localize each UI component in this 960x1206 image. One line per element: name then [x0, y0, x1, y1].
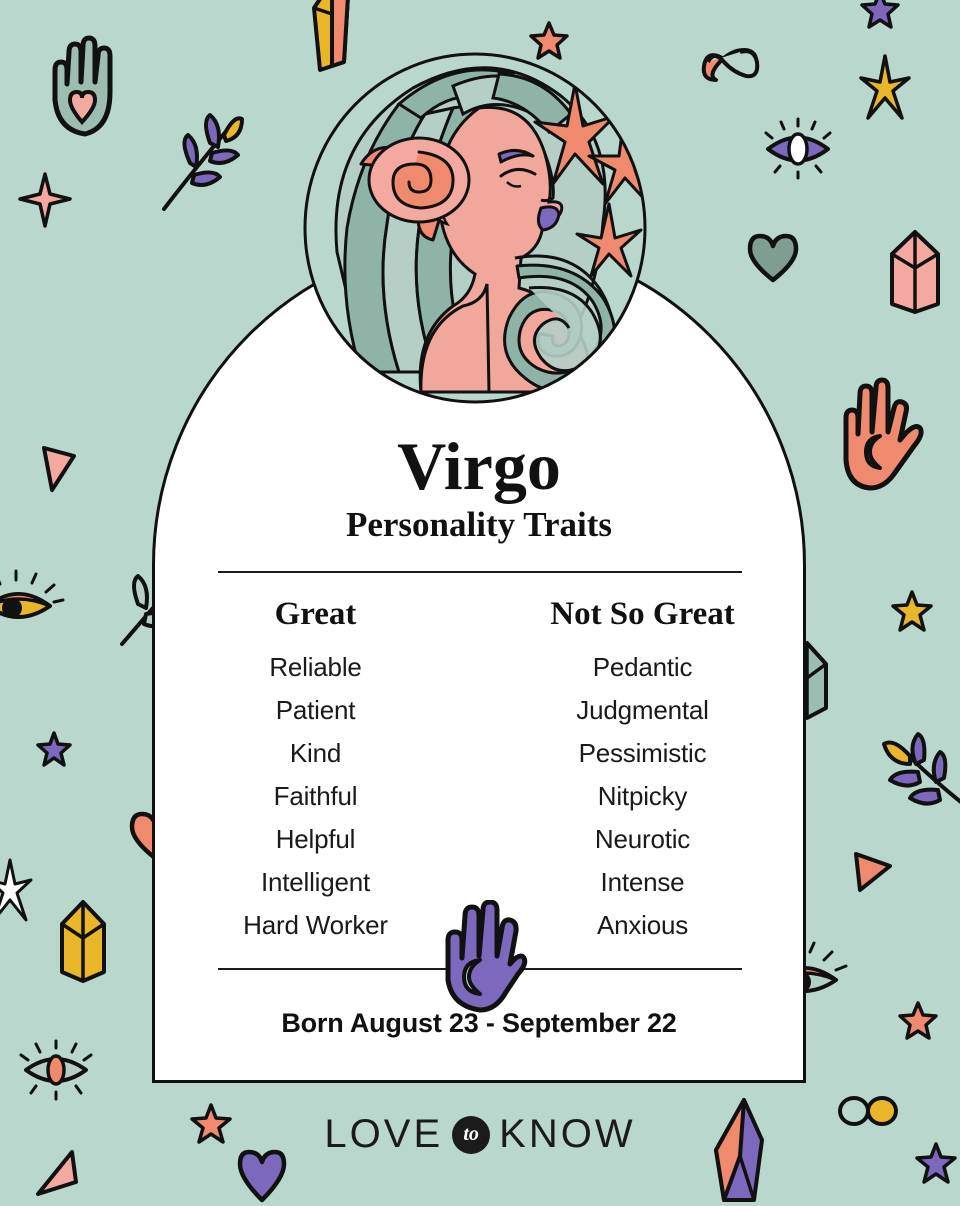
- trait-item: Judgmental: [479, 689, 806, 732]
- brand-logo: LOVE to KNOW: [0, 1112, 960, 1157]
- trait-item: Helpful: [152, 818, 479, 861]
- star-five-point-purple-left-icon: [34, 730, 74, 770]
- column-header-not-so-great: Not So Great: [479, 596, 806, 632]
- title-block: Virgo Personality Traits: [152, 430, 806, 546]
- triangle-pink-icon: [36, 440, 80, 496]
- trait-item: Faithful: [152, 775, 479, 818]
- star-five-point-yellow-icon: [888, 588, 936, 636]
- six-point-star-pink-icon: [18, 172, 72, 228]
- trait-item: Reliable: [152, 646, 479, 689]
- divider-top: [218, 571, 742, 573]
- heart-sage-icon: [746, 232, 800, 284]
- crystal-yellow-icon: [54, 898, 112, 986]
- trait-item: Neurotic: [479, 818, 806, 861]
- infinity-coral-icon: [700, 38, 762, 94]
- traits-column-great: Great Reliable Patient Kind Faithful Hel…: [152, 596, 479, 947]
- hand-with-heart-icon: [40, 30, 126, 150]
- logo-badge-to: to: [452, 1116, 490, 1154]
- trait-item: Anxious: [479, 904, 806, 947]
- eye-purple-icon: [760, 118, 836, 180]
- hand-with-moon-purple-icon: [432, 900, 528, 1018]
- star-four-point-yellow-icon: [860, 56, 910, 122]
- logo-word-know: KNOW: [499, 1112, 635, 1157]
- poster-canvas: Virgo Personality Traits Great Reliable …: [0, 0, 960, 1200]
- leaf-branch-purple-yellow-icon: [150, 105, 248, 213]
- star-five-point-purple-icon: [858, 0, 902, 32]
- trait-item: Pedantic: [479, 646, 806, 689]
- trait-item: Hard Worker: [152, 904, 479, 947]
- traits-table: Great Reliable Patient Kind Faithful Hel…: [152, 596, 806, 947]
- trait-item: Intense: [479, 861, 806, 904]
- eye-yellow-icon: [0, 570, 64, 632]
- column-header-great: Great: [152, 596, 479, 632]
- star-five-point-coral-right-icon: [896, 1000, 940, 1044]
- trait-item: Kind: [152, 732, 479, 775]
- logo-word-love: LOVE: [324, 1112, 443, 1157]
- traits-column-not-so-great: Not So Great Pedantic Judgmental Pessimi…: [479, 596, 806, 947]
- virgo-maiden-portrait: [303, 52, 647, 404]
- eye-sage-bottom-icon: [18, 1040, 94, 1102]
- page-title: Virgo: [152, 430, 806, 502]
- trait-item: Patient: [152, 689, 479, 732]
- hand-with-moon-coral-icon: [832, 378, 924, 496]
- triangle-coral-icon: [846, 848, 898, 900]
- trait-item: Intelligent: [152, 861, 479, 904]
- trait-item: Pessimistic: [479, 732, 806, 775]
- sparkle-four-point-white-icon: [0, 860, 32, 924]
- leaf-branch-purple-yellow-right-icon: [880, 730, 960, 814]
- crystal-pink-icon: [882, 228, 948, 316]
- trait-item: Nitpicky: [479, 775, 806, 818]
- page-subtitle: Personality Traits: [152, 504, 806, 546]
